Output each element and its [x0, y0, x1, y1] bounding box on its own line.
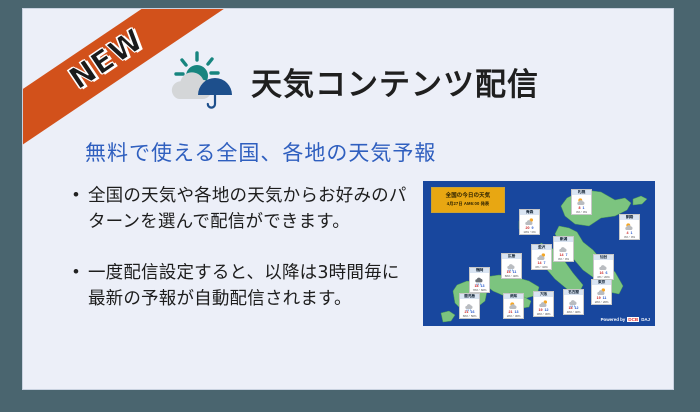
- precipitation-probability: 60%・50%: [463, 314, 477, 318]
- sun-cloud-icon: [572, 195, 591, 206]
- japan-weather-map: 全国の今日の天気 4月27日 AM6:00 発表 札幌810%・0%釧路410%…: [423, 181, 655, 326]
- precipitation-probability: 0%・0%: [624, 235, 635, 239]
- new-ribbon-label: NEW: [63, 22, 150, 97]
- precipitation-probability: 0%・0%: [576, 210, 587, 214]
- sun-cloud-icon: [504, 299, 523, 310]
- precipitation-probability: 20%・30%: [507, 314, 521, 318]
- city-weather-card: 東京191120%・20%: [591, 279, 612, 305]
- city-weather-card: 仙台1660%・20%: [593, 254, 614, 280]
- rain-heavy-icon: [470, 273, 489, 284]
- city-weather-card: 大阪191230%・30%: [533, 291, 554, 317]
- bullet-list: • 全国の天気や各地の天気からお好みのパターンを選んで配信ができます。 • 一度…: [73, 183, 413, 336]
- precipitation-probability: 0%・10%: [535, 265, 547, 269]
- precipitation-probability: 40%・40%: [567, 310, 581, 314]
- map-banner-title: 全国の今日の天気: [446, 194, 491, 199]
- slide-card: NEW: [22, 8, 674, 390]
- precipitation-probability: 30%・30%: [537, 312, 551, 316]
- city-weather-card: 新潟1470%・0%: [553, 236, 574, 262]
- bullet-marker: •: [73, 260, 79, 313]
- city-weather-card: 札幌810%・0%: [571, 189, 592, 215]
- rain-icon: [502, 259, 521, 270]
- city-weather-card: 福岡181370%・60%: [469, 267, 490, 293]
- rain-icon: [460, 299, 479, 310]
- page-title: 天気コンテンツ配信: [251, 59, 539, 104]
- cloud-sun-icon: [532, 250, 551, 261]
- bullet-marker: •: [73, 183, 79, 236]
- cloud-sun-icon: [592, 285, 611, 296]
- rain-icon: [564, 295, 583, 306]
- bullet-text: 全国の天気や各地の天気からお好みのパターンを選んで配信ができます。: [88, 183, 413, 236]
- precipitation-probability: 70%・60%: [473, 288, 487, 292]
- city-weather-card: 青森20910%・0%: [519, 209, 540, 235]
- list-item: • 全国の天気や各地の天気からお好みのパターンを選んで配信ができます。: [73, 183, 413, 236]
- cloud-sun-icon: [520, 215, 539, 226]
- precipitation-probability: 10%・0%: [523, 230, 535, 234]
- city-weather-card: 金沢1470%・10%: [531, 244, 552, 270]
- city-weather-card: 釧路410%・0%: [619, 214, 640, 240]
- bullet-text: 一度配信設定すると、以降は3時間毎に最新の予報が自動配信されます。: [88, 260, 413, 313]
- subtitle: 無料で使える全国、各地の天気予報: [85, 137, 436, 167]
- map-banner-subtitle: 4月27日 AM6:00 発表: [447, 202, 489, 206]
- city-weather-card: 鹿児島211660%・50%: [459, 293, 480, 319]
- sun-cloud-icon: [620, 220, 639, 231]
- credit-suffix: DAJ: [641, 317, 650, 322]
- cloud-icon: [554, 242, 573, 253]
- precipitation-probability: 0%・0%: [558, 257, 569, 261]
- cloud-icon: [594, 260, 613, 271]
- city-weather-card: 名古屋181240%・40%: [563, 289, 584, 315]
- list-item: • 一度配信設定すると、以降は3時間毎に最新の予報が自動配信されます。: [73, 260, 413, 313]
- header: 天気コンテンツ配信: [167, 51, 539, 111]
- city-weather-card: 広島161160%・40%: [501, 253, 522, 279]
- cloud-sun-icon: [534, 297, 553, 308]
- city-weather-card: 高知211320%・30%: [503, 293, 524, 319]
- slide-canvas: NEW: [0, 0, 700, 412]
- precipitation-probability: 20%・20%: [595, 300, 609, 304]
- precipitation-probability: 60%・40%: [505, 274, 519, 278]
- sun-cloud-umbrella-icon: [167, 51, 235, 111]
- credit-prefix: Powered by: [601, 317, 626, 322]
- map-banner: 全国の今日の天気 4月27日 AM6:00 発表: [431, 187, 505, 213]
- credit-logo: DCB: [627, 317, 639, 322]
- map-credit: Powered by DCB DAJ: [601, 317, 650, 322]
